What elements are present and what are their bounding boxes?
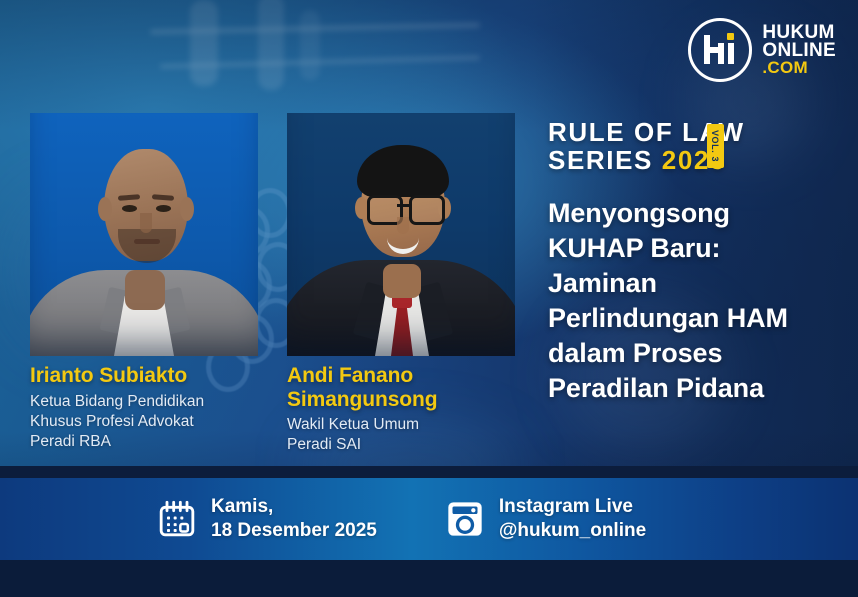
event-title: Menyongsong KUHAP Baru: Jaminan Perlindu… — [548, 196, 848, 407]
speaker-name-line: Simangunsong — [287, 388, 523, 412]
speaker-role-1: Ketua Bidang Pendidikan Khusus Profesi A… — [30, 392, 266, 452]
speaker-photo-1 — [30, 113, 258, 356]
title-line: Jaminan — [548, 266, 848, 301]
series-heading: RULE OF LAW SERIES 2025 VOL. 3 — [548, 118, 848, 174]
speaker-role-line: Khusus Profesi Advokat — [30, 412, 266, 432]
volume-badge: VOL. 3 — [707, 124, 724, 168]
volume-badge-label: VOL. 3 — [711, 130, 721, 162]
top-divider-strip — [0, 466, 858, 478]
title-line: KUHAP Baru: — [548, 231, 848, 266]
title-line: Peradilan Pidana — [548, 371, 848, 406]
series-line-2: SERIES 2025 — [548, 146, 848, 174]
speaker-info-2: Andi Fanano Simangunsong Wakil Ketua Umu… — [287, 364, 523, 455]
title-line: Menyongsong — [548, 196, 848, 231]
title-line: Perlindungan HAM — [548, 301, 848, 336]
footer-instagram-group[interactable]: Instagram Live @hukum_online — [445, 495, 646, 544]
series-label: SERIES — [548, 145, 662, 175]
speaker-role-line: Wakil Ketua Umum — [287, 415, 523, 435]
speaker-info-1: Irianto Subiakto Ketua Bidang Pendidikan… — [30, 364, 266, 452]
footer-platform-text: Instagram Live @hukum_online — [499, 495, 646, 544]
speaker-role-line: Ketua Bidang Pendidikan — [30, 392, 266, 412]
speaker-role-2: Wakil Ketua Umum Peradi SAI — [287, 415, 523, 455]
calendar-icon — [157, 499, 197, 539]
footer-date-day: Kamis, — [211, 495, 377, 519]
speaker-name-1: Irianto Subiakto — [30, 364, 266, 388]
speaker-role-line: Peradi RBA — [30, 432, 266, 452]
speaker-photo-2 — [287, 113, 515, 356]
footer-date-text: Kamis, 18 Desember 2025 — [211, 495, 377, 544]
instagram-icon — [445, 499, 485, 539]
hukumonline-circle-h-logo-icon — [688, 18, 752, 82]
logo-wordmark: HUKUM ONLINE .COM — [762, 24, 836, 77]
speaker-role-line: Peradi SAI — [287, 435, 523, 455]
logo-line-3: .COM — [762, 60, 836, 76]
speaker-name-line: Andi Fanano — [287, 364, 523, 388]
footer-date-group: Kamis, 18 Desember 2025 — [157, 495, 377, 544]
footer-date-full: 18 Desember 2025 — [211, 519, 377, 543]
hukumonline-logo[interactable]: HUKUM ONLINE .COM — [688, 18, 836, 82]
speaker-name-2: Andi Fanano Simangunsong — [287, 364, 523, 411]
series-line-1: RULE OF LAW — [548, 118, 848, 146]
footer-platform: Instagram Live — [499, 495, 646, 519]
bottom-divider-strip — [0, 560, 858, 597]
footer-bar: Kamis, 18 Desember 2025 Instagram Live @… — [0, 478, 858, 560]
footer-handle: @hukum_online — [499, 519, 646, 543]
event-poster: HUKUM ONLINE .COM RULE OF LAW SERIES 202… — [0, 0, 858, 597]
title-line: dalam Proses — [548, 336, 848, 371]
